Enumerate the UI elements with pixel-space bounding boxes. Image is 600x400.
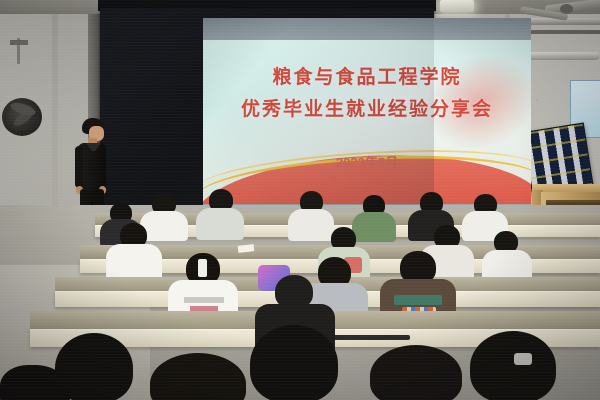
ceiling-fan-hub-icon — [560, 4, 573, 14]
screen-top-band — [203, 18, 531, 42]
audience-seating — [0, 205, 600, 400]
wall-fan-icon — [2, 96, 44, 140]
desk-edge — [330, 335, 410, 340]
shirt-print — [184, 297, 224, 303]
slide-text-block: 粮食与食品工程学院 优秀毕业生就业经验分享会 2023年5月 — [203, 40, 531, 206]
torso — [140, 211, 188, 241]
slide-title-line-2: 优秀毕业生就业经验分享会 — [203, 94, 531, 121]
shirt-graphic — [394, 295, 442, 305]
classroom-photo: 粮食与食品工程学院 优秀毕业生就业经验分享会 2023年5月 — [0, 0, 600, 400]
presenter-arm — [75, 146, 83, 188]
head — [370, 345, 462, 400]
torso — [352, 212, 396, 242]
hair-clip — [514, 353, 532, 365]
presentation-slide: 粮食与食品工程学院 优秀毕业生就业经验分享会 2023年5月 — [203, 40, 531, 206]
head — [470, 331, 556, 400]
hair-clip — [198, 259, 207, 277]
torso — [288, 209, 334, 241]
slide-date: 2023年5月 — [203, 152, 531, 171]
fan-bracket — [10, 40, 28, 45]
head — [250, 325, 338, 400]
slide-title-line-1: 粮食与食品工程学院 — [203, 62, 531, 89]
torso — [196, 208, 244, 240]
ceiling-light-icon — [440, 0, 474, 12]
projection-screen: 粮食与食品工程学院 优秀毕业生就业经验分享会 2023年5月 — [100, 8, 434, 222]
